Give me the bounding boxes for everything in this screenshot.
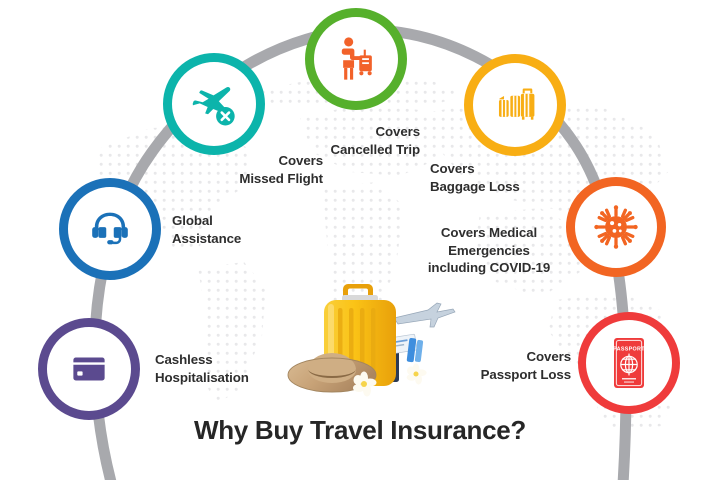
node-cashless-hospitalisation[interactable] [38, 318, 140, 420]
node-baggage-loss[interactable] [464, 54, 566, 156]
credit-card-icon [64, 344, 114, 394]
infographic-canvas: Covers Missed Flight [0, 0, 720, 480]
node-missed-flight[interactable] [163, 53, 265, 155]
label-baggage-loss: Covers Baggage Loss [430, 160, 590, 195]
node-global-assistance[interactable] [59, 178, 161, 280]
passport-icon: PASSPORT [607, 335, 651, 391]
node-medical-emergencies[interactable] [566, 177, 666, 277]
airplane-cancelled-icon [187, 77, 241, 131]
airplane-illustration [394, 303, 455, 327]
passport-label: PASSPORT [613, 346, 645, 352]
node-passport-loss[interactable]: PASSPORT [578, 312, 680, 414]
traveller-trolley-icon [330, 33, 382, 85]
label-cancelled-trip: Covers Cancelled Trip [274, 123, 420, 158]
travel-luggage-illustration [286, 262, 461, 397]
headset-icon [85, 204, 135, 254]
virus-icon [591, 202, 641, 252]
luggage-icon [488, 78, 542, 132]
label-global-assistance: Global Assistance [172, 212, 322, 247]
node-cancelled-trip[interactable] [305, 8, 407, 110]
page-title: Why Buy Travel Insurance? [0, 415, 720, 446]
